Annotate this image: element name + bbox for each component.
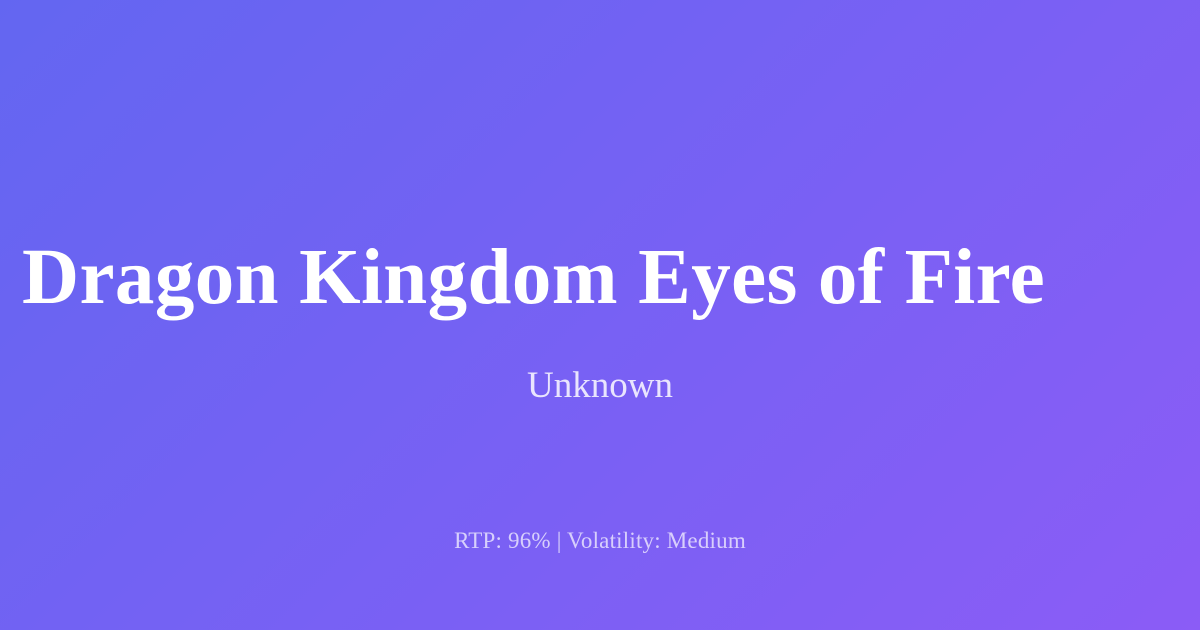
game-meta-line: RTP: 96% | Volatility: Medium	[0, 524, 1200, 558]
subtitle: Unknown	[0, 361, 1200, 411]
og-share-card: Dragon Kingdom Eyes of Fire Unknown RTP:…	[0, 0, 1200, 630]
page-title: Dragon Kingdom Eyes of Fire	[0, 232, 1045, 324]
title-row: Dragon Kingdom Eyes of Fire	[0, 232, 1200, 324]
